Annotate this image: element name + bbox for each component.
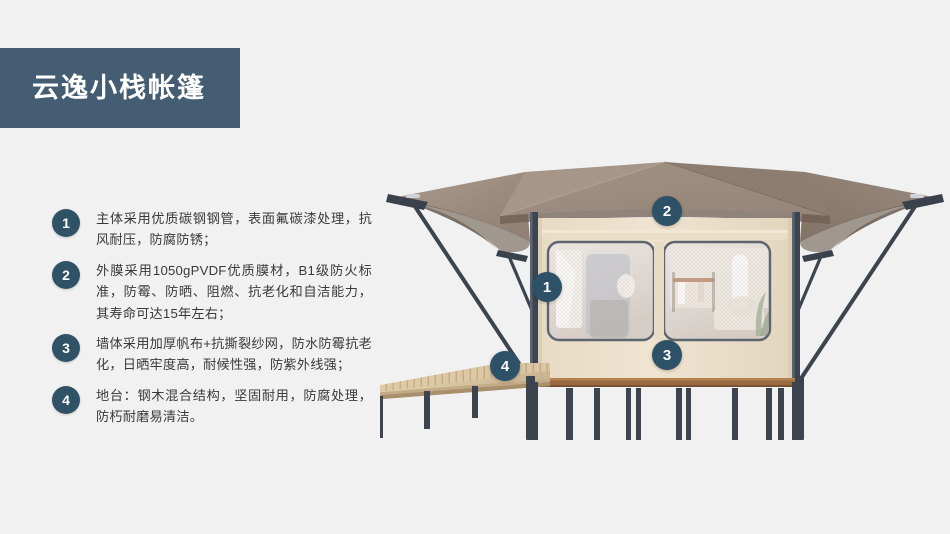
image-callout-3: 3 bbox=[652, 340, 682, 370]
list-item: 3 墙体采用加厚帆布+抗撕裂纱网，防水防霉抗老化，日晒牢度高，耐候性强，防紫外线… bbox=[52, 333, 372, 376]
image-callout-2: 2 bbox=[652, 196, 682, 226]
feature-text-4: 地台：钢木混合结构，坚固耐用，防腐处理，防朽耐磨易清洁。 bbox=[96, 385, 372, 428]
feature-text-1: 主体采用优质碳钢钢管，表面氟碳漆处理，抗风耐压，防腐防锈； bbox=[96, 208, 372, 251]
window-right bbox=[664, 242, 778, 340]
list-item: 4 地台：钢木混合结构，坚固耐用，防腐处理，防朽耐磨易清洁。 bbox=[52, 385, 372, 428]
feature-badge-2: 2 bbox=[52, 261, 80, 289]
image-callout-1: 1 bbox=[532, 272, 562, 302]
feature-list: 1 主体采用优质碳钢钢管，表面氟碳漆处理，抗风耐压，防腐防锈； 2 外膜采用10… bbox=[52, 208, 372, 436]
feature-badge-3: 3 bbox=[52, 334, 80, 362]
feature-text-2: 外膜采用1050gPVDF优质膜材，B1级防火标准，防霉、防晒、阻燃、抗老化和自… bbox=[96, 260, 372, 324]
feature-badge-1: 1 bbox=[52, 209, 80, 237]
image-callout-4: 4 bbox=[490, 351, 520, 381]
feature-badge-4: 4 bbox=[52, 386, 80, 414]
list-item: 2 外膜采用1050gPVDF优质膜材，B1级防火标准，防霉、防晒、阻燃、抗老化… bbox=[52, 260, 372, 324]
page-title: 云逸小栈帐篷 bbox=[32, 75, 206, 102]
window-left bbox=[548, 242, 654, 340]
feature-text-3: 墙体采用加厚帆布+抗撕裂纱网，防水防霉抗老化，日晒牢度高，耐候性强，防紫外线强； bbox=[96, 333, 372, 376]
wood-trim-band bbox=[532, 378, 798, 387]
title-banner: 云逸小栈帐篷 bbox=[0, 48, 240, 128]
wood-deck-platform bbox=[380, 363, 550, 400]
window-mullion bbox=[654, 242, 664, 340]
list-item: 1 主体采用优质碳钢钢管，表面氟碳漆处理，抗风耐压，防腐防锈； bbox=[52, 208, 372, 251]
